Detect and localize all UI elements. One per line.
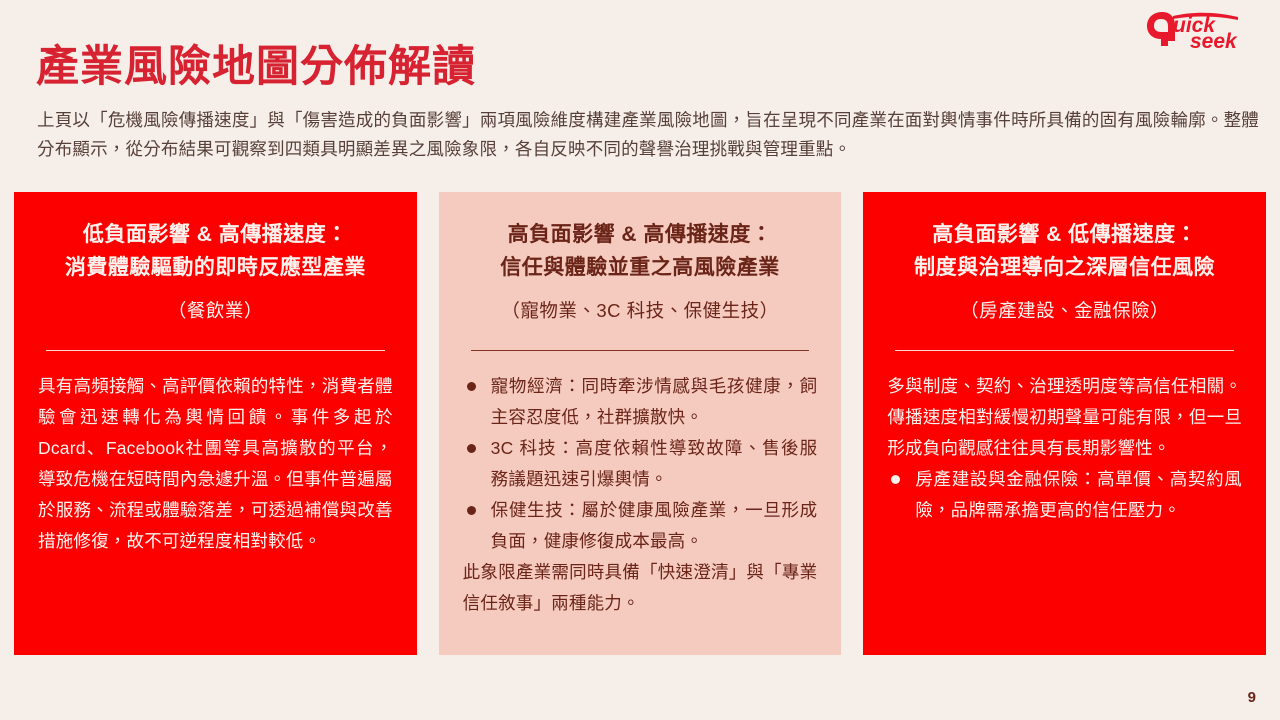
quadrant-cards: 低負面影響 & 高傳播速度： 消費體驗驅動的即時反應型產業 （餐飲業） 具有高頻… (14, 192, 1266, 655)
card-body: 多與制度、契約、治理透明度等高信任相關。傳播速度相對緩慢初期聲量可能有限，但一旦… (887, 371, 1242, 526)
card-heading-line2: 消費體驗驅動的即時反應型產業 (38, 251, 393, 284)
card-high-impact-low-speed[interactable]: 高負面影響 & 低傳播速度： 制度與治理導向之深層信任風險 （房產建設、金融保險… (863, 192, 1266, 655)
card-bullet-list: 房產建設與金融保險：高單價、高契約風險，品牌需承擔更高的信任壓力。 (887, 464, 1242, 526)
bullet-dot-icon (891, 475, 900, 484)
card-heading-line1: 低負面影響 & 高傳播速度： (38, 218, 393, 251)
card-subheading: （寵物業、3C 科技、保健生技） (463, 296, 818, 326)
list-item: 3C 科技：高度依賴性導致故障、售後服務議題迅速引爆輿情。 (463, 433, 818, 495)
page-title: 產業風險地圖分佈解讀 (36, 43, 476, 92)
card-heading: 高負面影響 & 高傳播速度： 信任與體驗並重之高風險產業 (463, 218, 818, 284)
card-low-impact-high-speed[interactable]: 低負面影響 & 高傳播速度： 消費體驗驅動的即時反應型產業 （餐飲業） 具有高頻… (14, 192, 417, 655)
card-body: 具有高頻接觸、高評價依賴的特性，消費者體驗會迅速轉化為輿情回饋。事件多起於Dca… (38, 371, 393, 557)
card-heading-line1: 高負面影響 & 高傳播速度： (463, 218, 818, 251)
card-divider (471, 350, 810, 351)
list-item: 寵物經濟：同時牽涉情感與毛孩健康，飼主容忍度低，社群擴散快。 (463, 371, 818, 433)
card-heading-line2: 制度與治理導向之深層信任風險 (887, 251, 1242, 284)
slide-root: uick seek 產業風險地圖分佈解讀 上頁以「危機風險傳播速度」與「傷害造成… (0, 0, 1280, 720)
list-item-text: 寵物經濟：同時牽涉情感與毛孩健康，飼主容忍度低，社群擴散快。 (491, 376, 818, 427)
card-divider (46, 350, 385, 351)
list-item-text: 保健生技：屬於健康風險產業，一旦形成負面，健康修復成本最高。 (491, 500, 818, 551)
list-item-text: 房產建設與金融保險：高單價、高契約風險，品牌需承擔更高的信任壓力。 (915, 469, 1242, 520)
card-heading-line1: 高負面影響 & 低傳播速度： (887, 218, 1242, 251)
card-heading: 高負面影響 & 低傳播速度： 制度與治理導向之深層信任風險 (887, 218, 1242, 284)
list-item-text: 3C 科技：高度依賴性導致故障、售後服務議題迅速引爆輿情。 (491, 438, 818, 489)
card-paragraph: 此象限產業需同時具備「快速澄清」與「專業信任敘事」兩種能力。 (463, 557, 818, 619)
bullet-dot-icon (467, 444, 476, 453)
intro-paragraph: 上頁以「危機風險傳播速度」與「傷害造成的負面影響」兩項風險維度構建產業風險地圖，… (37, 106, 1259, 164)
card-heading-line2: 信任與體驗並重之高風險產業 (463, 251, 818, 284)
svg-text:seek: seek (1190, 30, 1238, 52)
card-paragraph: 具有高頻接觸、高評價依賴的特性，消費者體驗會迅速轉化為輿情回饋。事件多起於Dca… (38, 371, 393, 557)
page-number: 9 (1248, 689, 1256, 706)
card-heading: 低負面影響 & 高傳播速度： 消費體驗驅動的即時反應型產業 (38, 218, 393, 284)
quickseek-logo: uick seek (1146, 8, 1264, 52)
card-subheading: （餐飲業） (38, 296, 393, 326)
card-paragraph: 多與制度、契約、治理透明度等高信任相關。傳播速度相對緩慢初期聲量可能有限，但一旦… (887, 371, 1242, 464)
card-high-impact-high-speed[interactable]: 高負面影響 & 高傳播速度： 信任與體驗並重之高風險產業 （寵物業、3C 科技、… (439, 192, 842, 655)
bullet-dot-icon (467, 382, 476, 391)
card-subheading: （房產建設、金融保險） (887, 296, 1242, 326)
card-bullet-list: 寵物經濟：同時牽涉情感與毛孩健康，飼主容忍度低，社群擴散快。 3C 科技：高度依… (463, 371, 818, 557)
bullet-dot-icon (467, 506, 476, 515)
list-item: 房產建設與金融保險：高單價、高契約風險，品牌需承擔更高的信任壓力。 (887, 464, 1242, 526)
card-body: 寵物經濟：同時牽涉情感與毛孩健康，飼主容忍度低，社群擴散快。 3C 科技：高度依… (463, 371, 818, 619)
list-item: 保健生技：屬於健康風險產業，一旦形成負面，健康修復成本最高。 (463, 495, 818, 557)
card-divider (895, 350, 1234, 351)
